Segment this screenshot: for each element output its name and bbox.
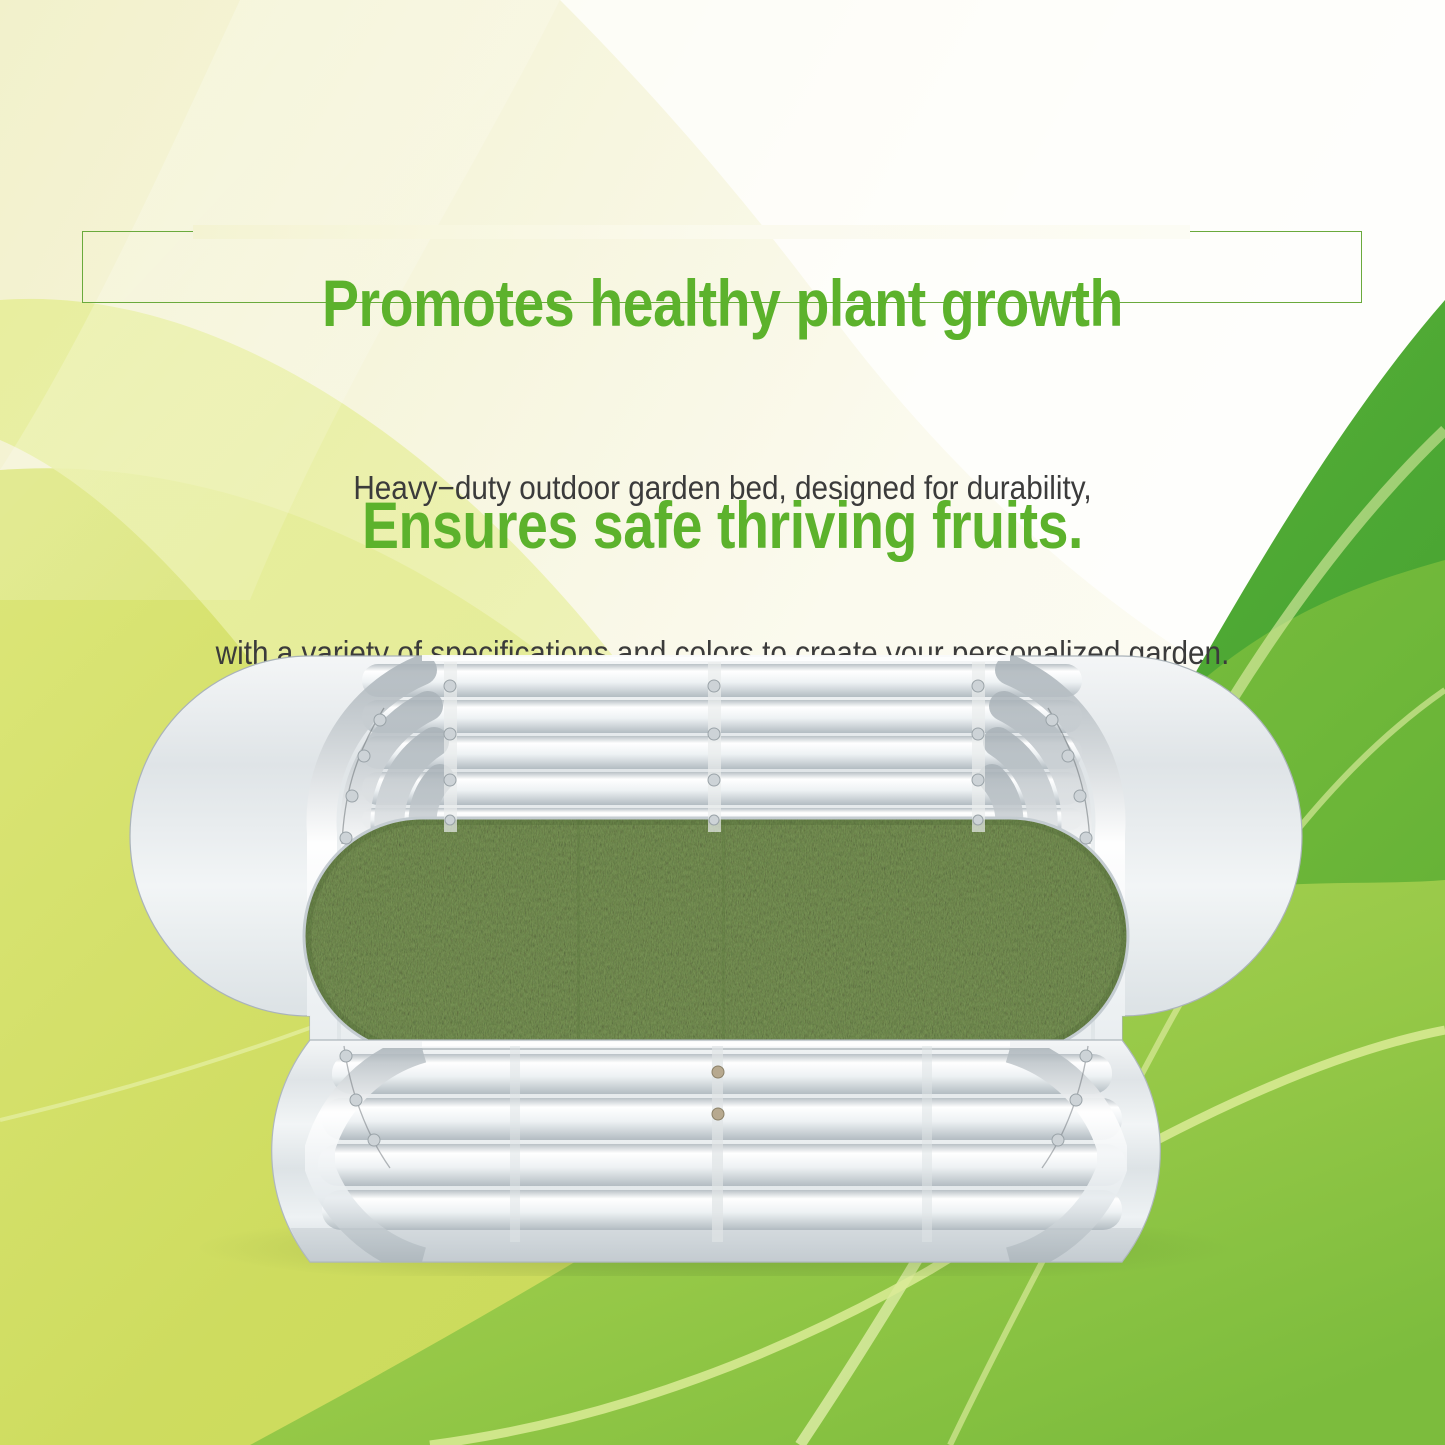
- subtitle-line-1: Heavy−duty outdoor garden bed, designed …: [72, 460, 1373, 515]
- seam-back-left: [444, 662, 457, 832]
- seam-back-center: [708, 662, 721, 832]
- seam-front-left: [510, 1046, 520, 1242]
- bed-interior: [302, 798, 1142, 1078]
- seam-front-right: [922, 1046, 932, 1242]
- product-banner: Promotes healthy plant growth Ensures sa…: [0, 0, 1445, 1445]
- product-image-oval-raised-garden-bed: [122, 648, 1310, 1276]
- seam-front-center: [712, 1046, 724, 1242]
- headline-line-1: Promotes healthy plant growth: [116, 266, 1330, 340]
- seam-back-right: [972, 662, 985, 832]
